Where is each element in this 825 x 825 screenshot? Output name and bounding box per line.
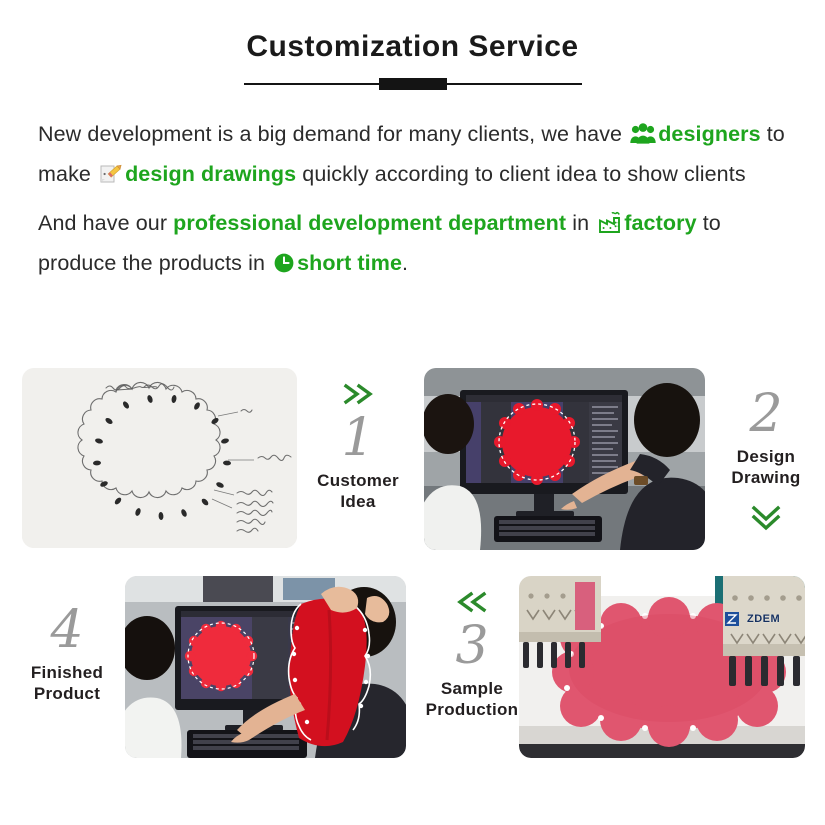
title-divider [244, 78, 582, 90]
factory-icon [597, 209, 622, 245]
step-label-3-line2: Production [412, 699, 532, 720]
machine-brand-label: ZDEM [745, 614, 782, 624]
step-number-1: 1 [298, 412, 418, 464]
divider-center-block [379, 78, 447, 90]
p2-seg7: . [402, 251, 408, 275]
process-steps-grid: 1 Customer Idea [0, 358, 825, 778]
step-label-4-line2: Product [7, 683, 127, 704]
step-label-2: Design Drawing [706, 446, 825, 488]
steps-row-bottom: 4 Finished Product [0, 566, 825, 766]
p2-factory-highlight: factory [624, 211, 696, 235]
step-number-4: 4 [7, 604, 127, 656]
chevron-double-right-icon [298, 378, 418, 410]
photo-designers-at-monitor [424, 368, 705, 550]
paragraph-1: New development is a big demand for many… [38, 116, 787, 196]
step-marker-2: 2 Design Drawing [706, 388, 825, 534]
step-label-3: Sample Production [412, 678, 532, 720]
step-marker-4: 4 Finished Product [7, 604, 127, 704]
step-marker-3: 3 Sample Production [412, 586, 532, 720]
paragraph-2: And have our professional development de… [38, 205, 787, 285]
p2-seg3: in [566, 211, 595, 235]
step-label-4: Finished Product [7, 662, 127, 704]
step-label-1-line2: Idea [298, 491, 418, 512]
page-title: Customization Service [0, 30, 825, 64]
photo-finished-red-napkin [125, 576, 406, 758]
p2-short-time-highlight: short time [297, 251, 402, 275]
step-label-4-line1: Finished [7, 662, 127, 683]
photo-hand-drawn-napkin-sketch [22, 368, 297, 548]
p1-seg1: New development is a big demand for many… [38, 122, 628, 146]
step-number-2: 2 [706, 388, 825, 440]
clock-icon [273, 249, 295, 285]
step-label-1: Customer Idea [298, 470, 418, 512]
step-number-3: 3 [412, 620, 532, 672]
step-label-3-line1: Sample [412, 678, 532, 699]
p1-design-drawings-highlight: design drawings [125, 162, 296, 186]
p2-seg1: And have our [38, 211, 173, 235]
step-marker-1: 1 Customer Idea [298, 378, 418, 512]
p1-seg5: quickly according to client idea to show… [296, 162, 745, 186]
memo-pencil-icon [99, 160, 123, 196]
p1-designers-highlight: designers [658, 122, 760, 146]
p2-dept-highlight: professional development department [173, 211, 566, 235]
step-label-2-line1: Design [706, 446, 825, 467]
steps-row-top: 1 Customer Idea [0, 358, 825, 558]
step-label-1-line1: Customer [298, 470, 418, 491]
description-block: New development is a big demand for many… [38, 116, 787, 285]
step-label-2-line2: Drawing [706, 467, 825, 488]
chevron-double-left-icon [412, 586, 532, 618]
photo-embroidery-machine: ZDEM [519, 576, 805, 758]
people-group-icon [630, 120, 656, 156]
page-header: Customization Service [0, 0, 825, 90]
chevron-double-down-icon [706, 500, 825, 532]
